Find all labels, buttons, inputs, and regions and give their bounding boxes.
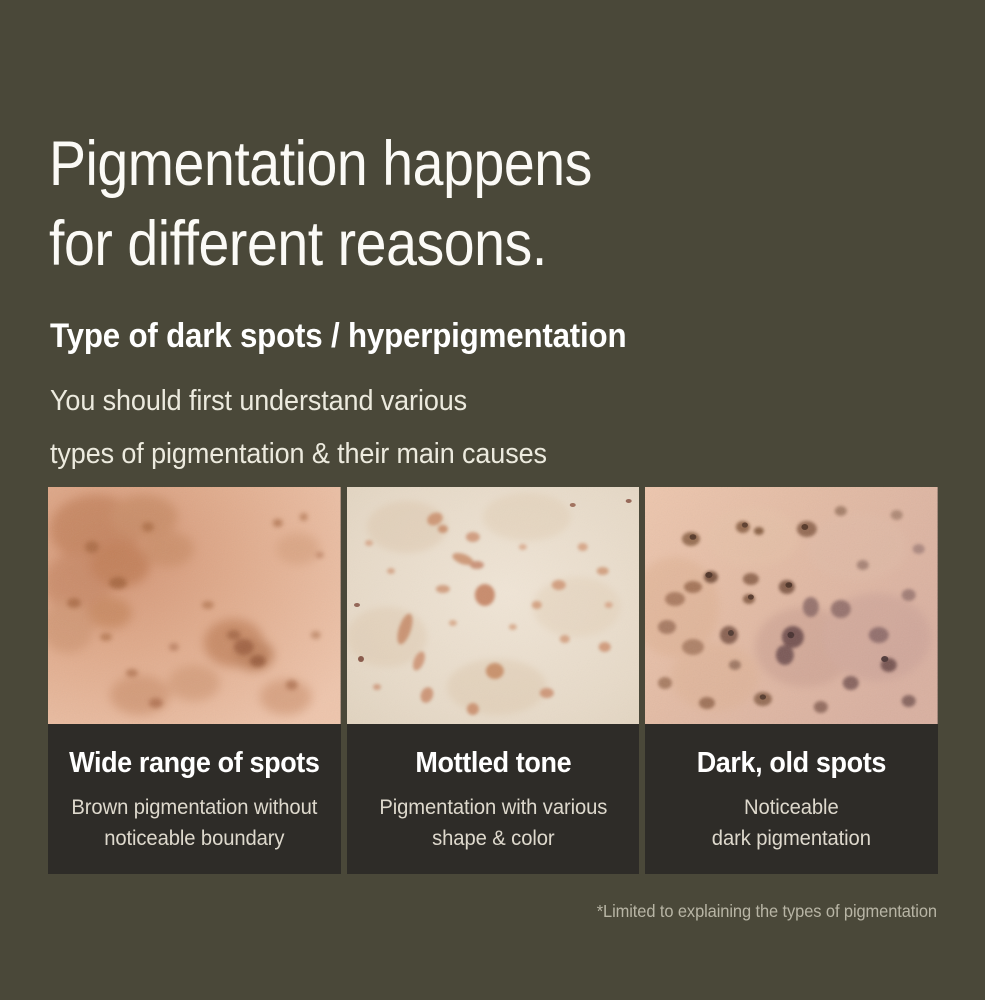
skin-photo-wide-range-of-spots [48, 487, 341, 724]
pigmentation-info-page: Pigmentation happens for different reaso… [0, 0, 985, 1000]
card-caption: Mottled tone Pigmentation with various s… [347, 724, 640, 874]
pigmentation-type-cards: Wide range of spots Brown pigmentation w… [48, 487, 938, 874]
section-subtitle: You should first understand various type… [50, 375, 547, 481]
card-caption: Dark, old spots Noticeable dark pigmenta… [645, 724, 938, 874]
card-title: Dark, old spots [665, 746, 919, 780]
card-description: Noticeable dark pigmentation [664, 792, 920, 854]
card-caption: Wide range of spots Brown pigmentation w… [48, 724, 341, 874]
footnote-disclaimer: *Limited to explaining the types of pigm… [597, 899, 937, 923]
page-headline: Pigmentation happens for different reaso… [49, 124, 823, 284]
card-title: Mottled tone [366, 746, 620, 780]
skin-photo-mottled-tone [347, 487, 640, 724]
card-description: Pigmentation with various shape & color [365, 792, 621, 854]
card-description: Brown pigmentation without noticeable bo… [66, 792, 322, 854]
card-title: Wide range of spots [68, 746, 322, 780]
pigmentation-card-dark-old-spots[interactable]: Dark, old spots Noticeable dark pigmenta… [645, 487, 938, 874]
pigmentation-card-mottled-tone[interactable]: Mottled tone Pigmentation with various s… [347, 487, 640, 874]
skin-photo-dark-old-spots [645, 487, 938, 724]
pigmentation-card-wide-range-of-spots[interactable]: Wide range of spots Brown pigmentation w… [48, 487, 341, 874]
section-title: Type of dark spots / hyperpigmentation [50, 314, 626, 358]
